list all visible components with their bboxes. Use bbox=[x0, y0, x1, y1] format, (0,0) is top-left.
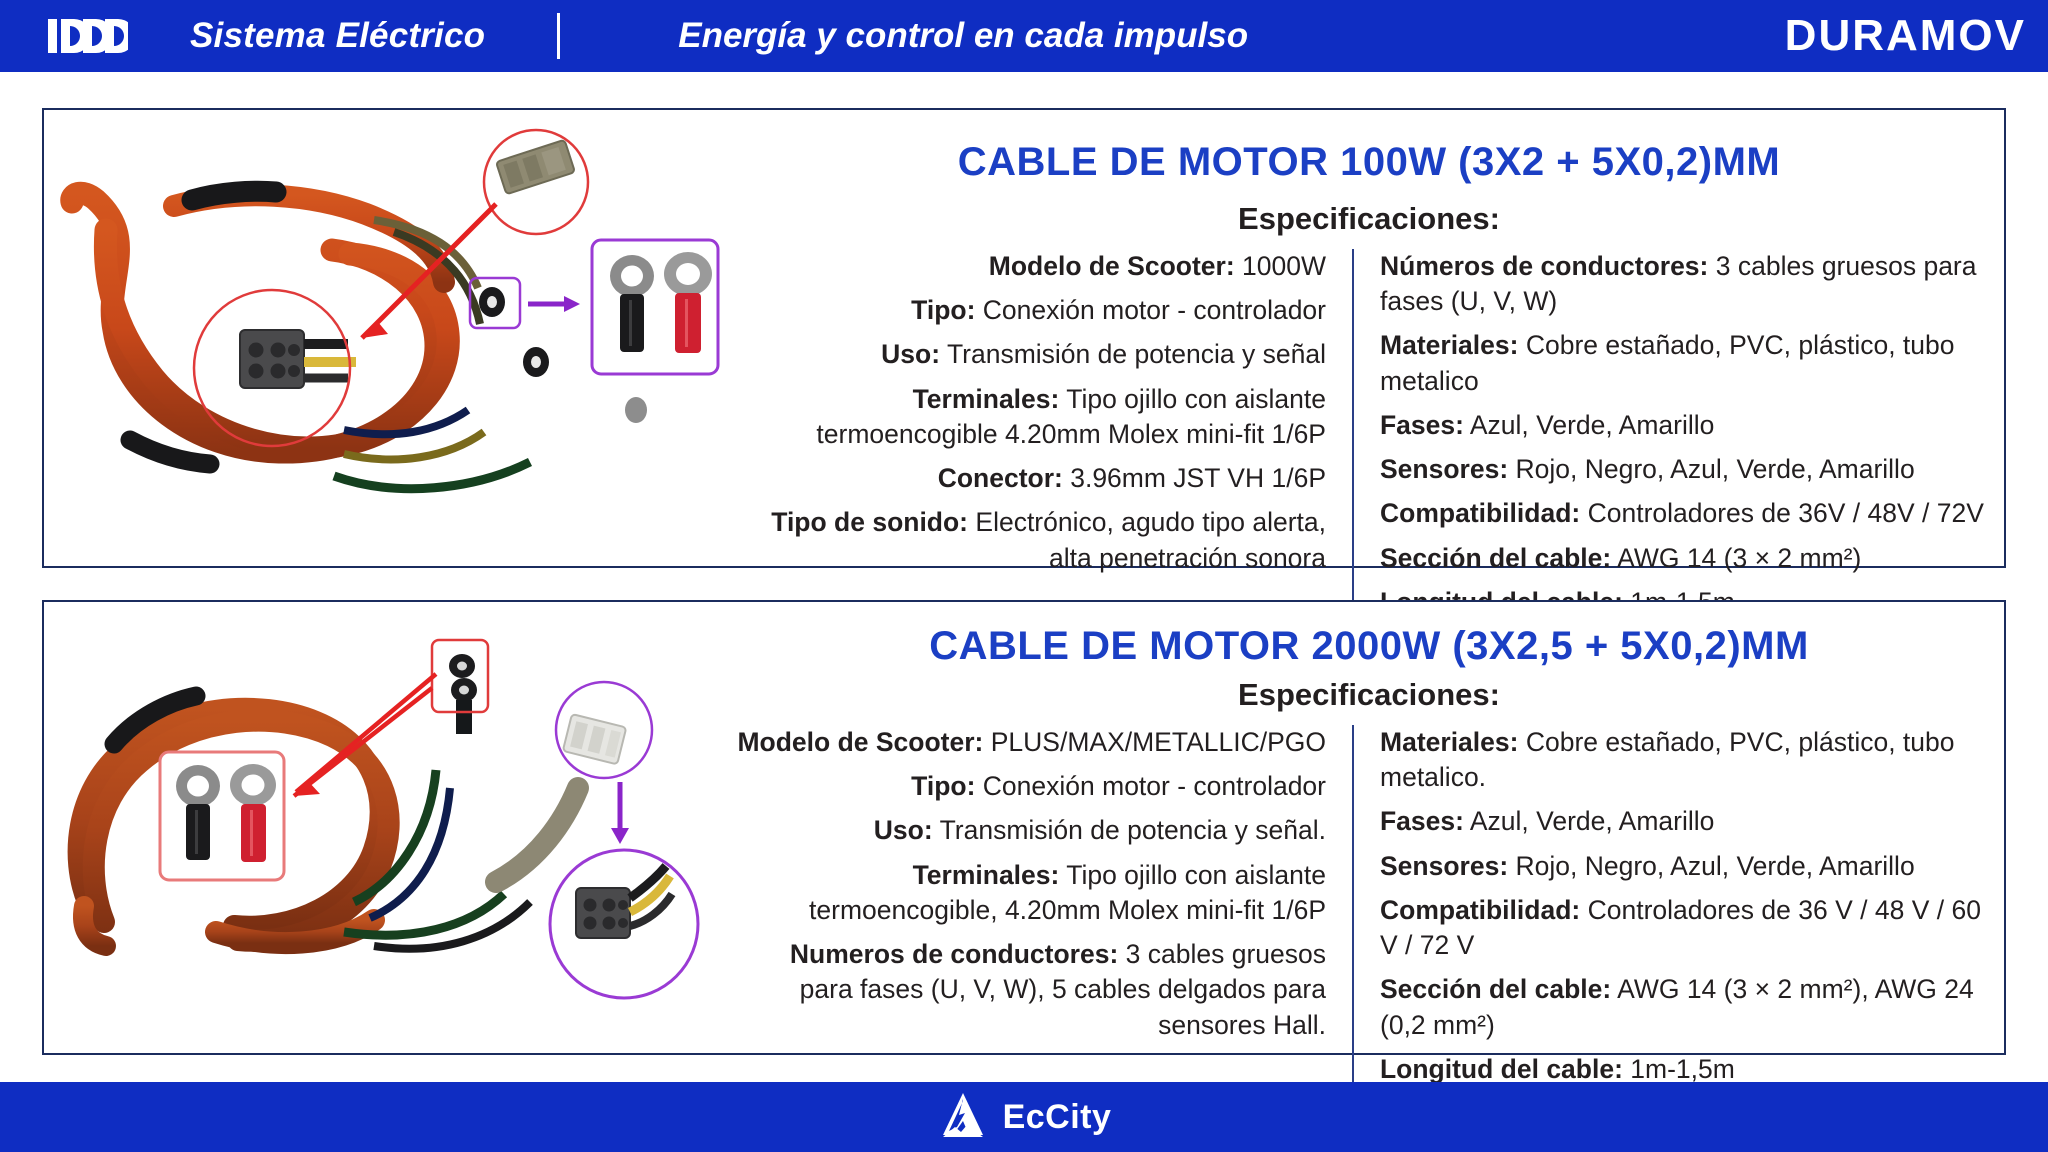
spec-label: Tipo: bbox=[911, 771, 975, 801]
spec-line: Tipo: Conexión motor - controlador bbox=[734, 769, 1326, 804]
spec-line: Compatibilidad: Controladores de 36V / 4… bbox=[1380, 496, 2004, 531]
spec-heading: Especificaciones: bbox=[734, 201, 2004, 237]
spec-value: 3.96mm JST VH 1/6P bbox=[1070, 463, 1326, 493]
spec-value: Electrónico, agudo tipo alerta, alta pen… bbox=[975, 507, 1326, 572]
product-card: CABLE DE MOTOR 2000W (3X2,5 + 5X0,2)MM E… bbox=[42, 600, 2006, 1055]
product-title: CABLE DE MOTOR 2000W (3X2,5 + 5X0,2)MM bbox=[734, 624, 2004, 669]
ddd-monogram-icon bbox=[46, 14, 128, 58]
spec-label: Compatibilidad: bbox=[1380, 498, 1580, 528]
spec-heading: Especificaciones: bbox=[734, 677, 2004, 713]
spec-value: Conexión motor - controlador bbox=[983, 295, 1326, 325]
spec-value: Conexión motor - controlador bbox=[983, 771, 1326, 801]
spec-line: Materiales: Cobre estañado, PVC, plástic… bbox=[1380, 328, 2004, 398]
spec-line: Materiales: Cobre estañado, PVC, plástic… bbox=[1380, 725, 2004, 795]
header-tagline: Energía y control en cada impulso bbox=[678, 16, 1248, 56]
spec-label: Sensores: bbox=[1380, 454, 1508, 484]
spec-line: Sección del cable: AWG 14 (3 × 2 mm²) bbox=[1380, 541, 2004, 576]
spec-label: Conector: bbox=[938, 463, 1063, 493]
spec-value: Transmisión de potencia y señal. bbox=[940, 815, 1326, 845]
page-footer: EcCity bbox=[0, 1082, 2048, 1152]
footer-brand: EcCity bbox=[1003, 1098, 1112, 1137]
spec-line: Uso: Transmisión de potencia y señal. bbox=[734, 813, 1326, 848]
brand-duramov: DURAMOV bbox=[1785, 11, 2026, 61]
spec-label: Tipo: bbox=[911, 295, 975, 325]
spec-line: Numeros de conductores: 3 cables gruesos… bbox=[734, 937, 1326, 1043]
spec-line: Tipo: Conexión motor - controlador bbox=[734, 293, 1326, 328]
spec-line: Uso: Transmisión de potencia y señal bbox=[734, 337, 1326, 372]
header-divider bbox=[557, 13, 560, 59]
spec-line: Modelo de Scooter: 1000W bbox=[734, 249, 1326, 284]
spec-line: Sección del cable: AWG 14 (3 × 2 mm²), A… bbox=[1380, 972, 2004, 1042]
header-title: Sistema Eléctrico bbox=[190, 16, 485, 56]
spec-label: Modelo de Scooter: bbox=[989, 251, 1235, 281]
spec-label: Sección del cable: bbox=[1380, 543, 1611, 573]
spec-value: Transmisión de potencia y señal bbox=[947, 339, 1326, 369]
spec-value: 1m-1,5m bbox=[1630, 1054, 1735, 1084]
spec-value: 1000W bbox=[1242, 251, 1326, 281]
product-photo-2000w bbox=[44, 602, 734, 1053]
spec-label: Materiales: bbox=[1380, 727, 1518, 757]
spec-label: Modelo de Scooter: bbox=[737, 727, 983, 757]
page-header: Sistema Eléctrico Energía y control en c… bbox=[0, 0, 2048, 72]
spec-label: Uso: bbox=[881, 339, 940, 369]
spec-value: Controladores de 36V / 48V / 72V bbox=[1588, 498, 1984, 528]
spec-line: Modelo de Scooter: PLUS/MAX/METALLIC/PGO bbox=[734, 725, 1326, 760]
spec-value: Rojo, Negro, Azul, Verde, Amarillo bbox=[1516, 454, 1915, 484]
spec-line: Conector: 3.96mm JST VH 1/6P bbox=[734, 461, 1326, 496]
spec-label: Uso: bbox=[874, 815, 933, 845]
spec-line: Compatibilidad: Controladores de 36 V / … bbox=[1380, 893, 2004, 963]
spec-label: Números de conductores: bbox=[1380, 251, 1708, 281]
spec-value: Azul, Verde, Amarillo bbox=[1470, 806, 1715, 836]
product-card: CABLE DE MOTOR 100W (3X2 + 5X0,2)MM Espe… bbox=[42, 108, 2006, 568]
spec-label: Compatibilidad: bbox=[1380, 895, 1580, 925]
spec-line: Números de conductores: 3 cables gruesos… bbox=[1380, 249, 2004, 319]
spec-label: Materiales: bbox=[1380, 330, 1518, 360]
eccity-mountain-icon bbox=[937, 1091, 989, 1144]
spec-value: Tipo ojillo con aislante termoencogible,… bbox=[809, 860, 1326, 925]
spec-value: Rojo, Negro, Azul, Verde, Amarillo bbox=[1516, 851, 1915, 881]
spec-value: Azul, Verde, Amarillo bbox=[1470, 410, 1715, 440]
product-title: CABLE DE MOTOR 100W (3X2 + 5X0,2)MM bbox=[734, 140, 2004, 185]
spec-label: Sección del cable: bbox=[1380, 974, 1611, 1004]
spec-label: Sensores: bbox=[1380, 851, 1508, 881]
spec-value: AWG 14 (3 × 2 mm²) bbox=[1617, 543, 1861, 573]
product-photo-1000w bbox=[44, 110, 734, 566]
spec-line: Sensores: Rojo, Negro, Azul, Verde, Amar… bbox=[1380, 849, 2004, 884]
spec-label: Tipo de sonido: bbox=[771, 507, 968, 537]
spec-label: Terminales: bbox=[913, 384, 1060, 414]
spec-label: Longitud del cable: bbox=[1380, 1054, 1623, 1084]
spec-label: Fases: bbox=[1380, 806, 1464, 836]
spec-line: Sensores: Rojo, Negro, Azul, Verde, Amar… bbox=[1380, 452, 2004, 487]
spec-line: Tipo de sonido: Electrónico, agudo tipo … bbox=[734, 505, 1326, 575]
spec-line: Terminales: Tipo ojillo con aislante ter… bbox=[734, 858, 1326, 928]
spec-label: Numeros de conductores: bbox=[790, 939, 1118, 969]
spec-value: PLUS/MAX/METALLIC/PGO bbox=[991, 727, 1326, 757]
spec-label: Terminales: bbox=[913, 860, 1060, 890]
spec-line: Terminales: Tipo ojillo con aislante ter… bbox=[734, 382, 1326, 452]
spec-line: Fases: Azul, Verde, Amarillo bbox=[1380, 804, 2004, 839]
spec-label: Fases: bbox=[1380, 410, 1464, 440]
spec-line: Fases: Azul, Verde, Amarillo bbox=[1380, 408, 2004, 443]
spec-value: Tipo ojillo con aislante termoencogible … bbox=[816, 384, 1326, 449]
